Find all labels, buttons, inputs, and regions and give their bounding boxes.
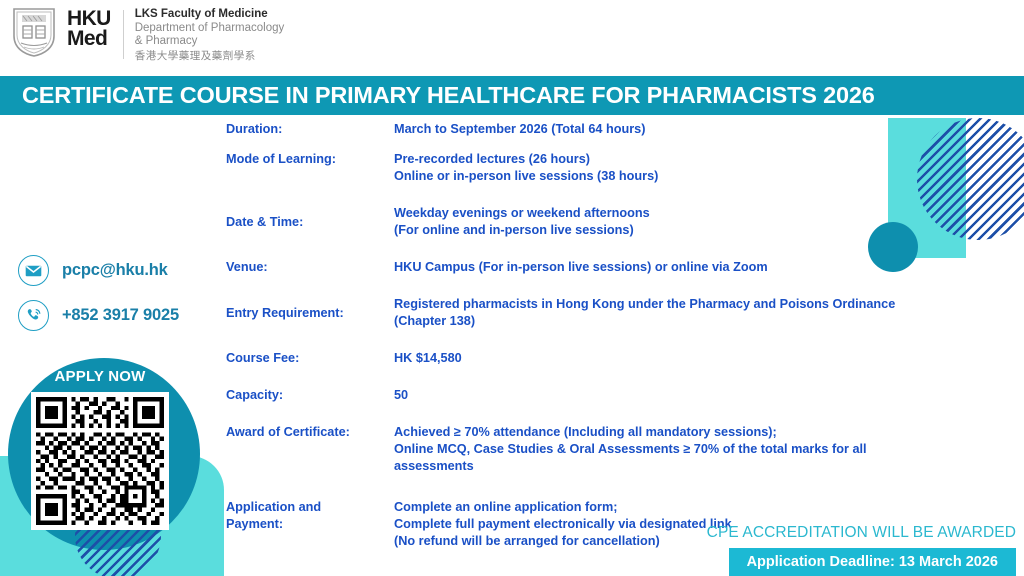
detail-value: Pre-recorded lectures (26 hours) Online … [394,151,926,185]
page-title: CERTIFICATE COURSE IN PRIMARY HEALTHCARE… [0,82,875,109]
detail-value: HKU Campus (For in-person live sessions)… [394,259,926,276]
faculty-line-4-chinese: 香港大學藥理及藥劑學系 [135,49,285,63]
detail-row-venue: Venue: HKU Campus (For in-person live se… [226,259,926,276]
detail-row-entry-requirement: Entry Requirement: Registered pharmacist… [226,296,926,330]
brand-divider [123,10,124,59]
detail-value-line: March to September 2026 (Total 64 hours) [394,121,926,138]
brand-lockup: HKU Med LKS Faculty of Medicine Departme… [10,6,284,63]
contact-block: pcpc@hku.hk +852 3917 9025 [18,255,179,345]
detail-label: Date & Time: [226,205,394,239]
detail-value: HK $14,580 [394,350,926,367]
envelope-icon [18,255,49,286]
hkumed-line1: HKU [67,9,111,29]
faculty-line-3: & Pharmacy [135,35,285,49]
detail-value-line: HK $14,580 [394,350,926,367]
detail-value-line: Registered pharmacists in Hong Kong unde… [394,296,926,313]
decor-teal-sliver-left [0,478,8,574]
detail-label: Venue: [226,259,394,276]
faculty-line-1: LKS Faculty of Medicine [135,8,285,22]
poster-canvas: HKU Med LKS Faculty of Medicine Departme… [0,0,1024,576]
detail-value-line: Online or in-person live sessions (38 ho… [394,168,926,185]
detail-value-line: 50 [394,387,926,404]
detail-value-line: (For online and in-person live sessions) [394,222,926,239]
detail-row-award-of-certificate: Award of Certificate: Achieved ≥ 70% att… [226,424,926,475]
contact-phone-text: +852 3917 9025 [62,306,179,325]
apply-now-heading: APPLY NOW [14,368,186,392]
detail-value-line: Online MCQ, Case Studies & Oral Assessme… [394,441,914,475]
course-details-table: Duration: March to September 2026 (Total… [226,121,926,563]
detail-row-mode-of-learning: Mode of Learning: Pre-recorded lectures … [226,151,926,185]
detail-value: March to September 2026 (Total 64 hours) [394,121,926,138]
hkumed-line2: Med [67,29,111,49]
detail-row-date-time: Date & Time: Weekday evenings or weekend… [226,205,926,239]
detail-value: Achieved ≥ 70% attendance (Including all… [394,424,926,475]
detail-label: Entry Requirement: [226,296,394,330]
course-title-band: CERTIFICATE COURSE IN PRIMARY HEALTHCARE… [0,76,1024,115]
detail-label: Capacity: [226,387,394,404]
detail-value-line: Achieved ≥ 70% attendance (Including all… [394,424,926,441]
detail-value: Registered pharmacists in Hong Kong unde… [394,296,926,330]
detail-row-course-fee: Course Fee: HK $14,580 [226,350,926,367]
detail-value-line: Weekday evenings or weekend afternoons [394,205,926,222]
apply-now-block[interactable]: APPLY NOW [14,368,186,530]
detail-label: Mode of Learning: [226,151,394,185]
detail-label: Course Fee: [226,350,394,367]
detail-value: Weekday evenings or weekend afternoons (… [394,205,926,239]
phone-icon [18,300,49,331]
detail-value-line: HKU Campus (For in-person live sessions)… [394,259,926,276]
decor-striped-circle-top-right [917,118,1024,240]
faculty-text-block: LKS Faculty of Medicine Department of Ph… [135,6,285,63]
detail-value: 50 [394,387,926,404]
detail-label: Award of Certificate: [226,424,394,475]
detail-value-line: Pre-recorded lectures (26 hours) [394,151,926,168]
detail-label-line: Payment: [226,516,394,533]
qr-code-icon[interactable] [31,392,169,530]
detail-label: Application and Payment: [226,499,394,550]
detail-row-capacity: Capacity: 50 [226,387,926,404]
hku-crest-icon [10,6,58,58]
detail-value-line: Complete an online application form; [394,499,926,516]
hkumed-wordmark: HKU Med [67,6,111,49]
application-deadline-badge: Application Deadline: 13 March 2026 [729,548,1016,576]
detail-value-line: (Chapter 138) [394,313,926,330]
detail-label: Duration: [226,121,394,138]
cpe-accreditation-note: CPE ACCREDITATION WILL BE AWARDED [707,524,1016,542]
contact-phone-row[interactable]: +852 3917 9025 [18,300,179,331]
faculty-line-2: Department of Pharmacology [135,22,285,36]
detail-label-line: Application and [226,499,394,516]
contact-email-row[interactable]: pcpc@hku.hk [18,255,179,286]
contact-email-text: pcpc@hku.hk [62,261,168,280]
detail-row-duration: Duration: March to September 2026 (Total… [226,121,926,138]
